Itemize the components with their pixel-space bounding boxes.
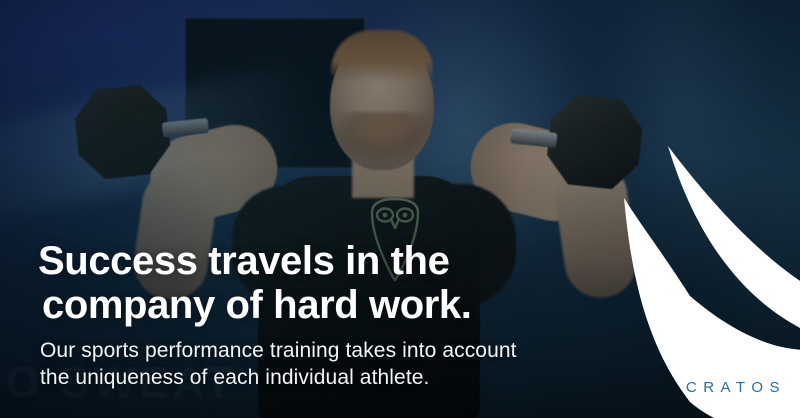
- subhead-line-2: the uniqueness of each individual athlet…: [40, 366, 429, 389]
- subheadline: Our sports performance training takes in…: [40, 337, 598, 392]
- cratos-promo-banner: NO SWEAT: [0, 0, 800, 418]
- cratos-wordmark: CRATOS: [686, 379, 786, 396]
- subhead-line-1: Our sports performance training takes in…: [40, 339, 517, 362]
- copy-block: Success travels in the company of hard w…: [38, 239, 598, 392]
- headline-line-2: company of hard work.: [38, 283, 598, 327]
- page-title: Success travels in the company of hard w…: [38, 239, 598, 327]
- headline-line-1: Success travels in the: [38, 239, 449, 283]
